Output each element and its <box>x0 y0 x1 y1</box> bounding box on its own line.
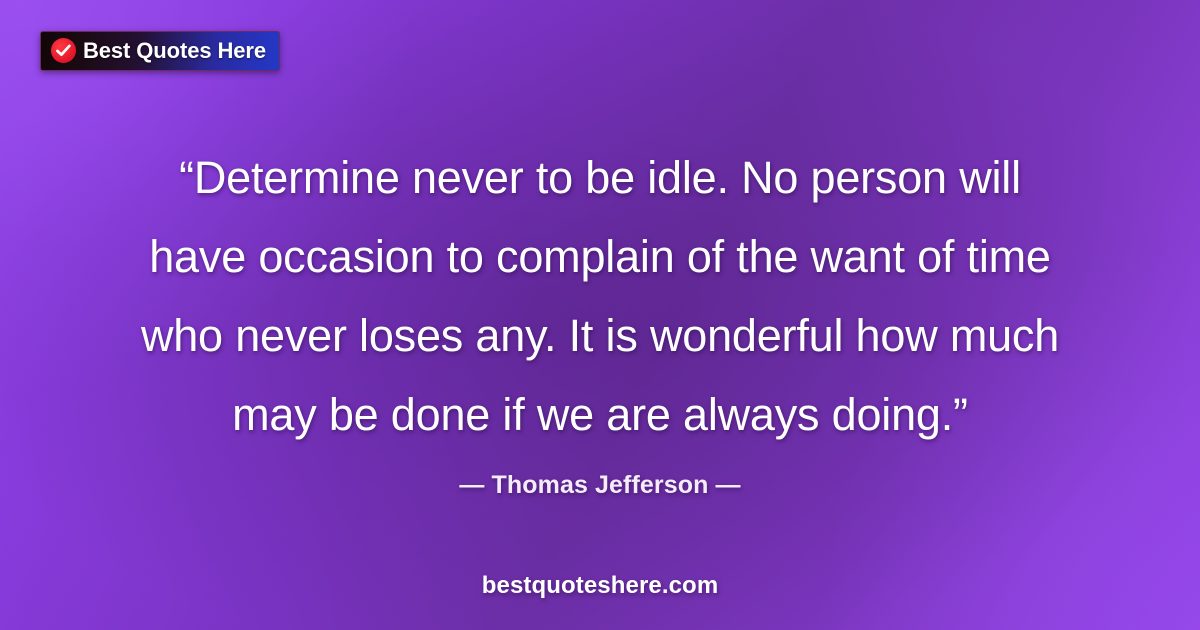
quote-line: may be done if we are always doing.” <box>54 375 1146 454</box>
footer-website-url: bestquoteshere.com <box>0 572 1200 600</box>
quote-line: who never loses any. It is wonderful how… <box>54 296 1146 375</box>
brand-badge[interactable]: Best Quotes Here <box>40 31 280 71</box>
quote-text: “Determine never to be idle. No person w… <box>0 138 1200 454</box>
brand-badge-label: Best Quotes Here <box>83 40 266 62</box>
quote-line: “Determine never to be idle. No person w… <box>54 138 1146 217</box>
quote-attribution: — Thomas Jefferson — <box>0 471 1200 500</box>
quote-poster: Best Quotes Here “Determine never to be … <box>0 0 1200 630</box>
quote-line: have occasion to complain of the want of… <box>54 217 1146 296</box>
check-circle-icon <box>51 38 76 63</box>
